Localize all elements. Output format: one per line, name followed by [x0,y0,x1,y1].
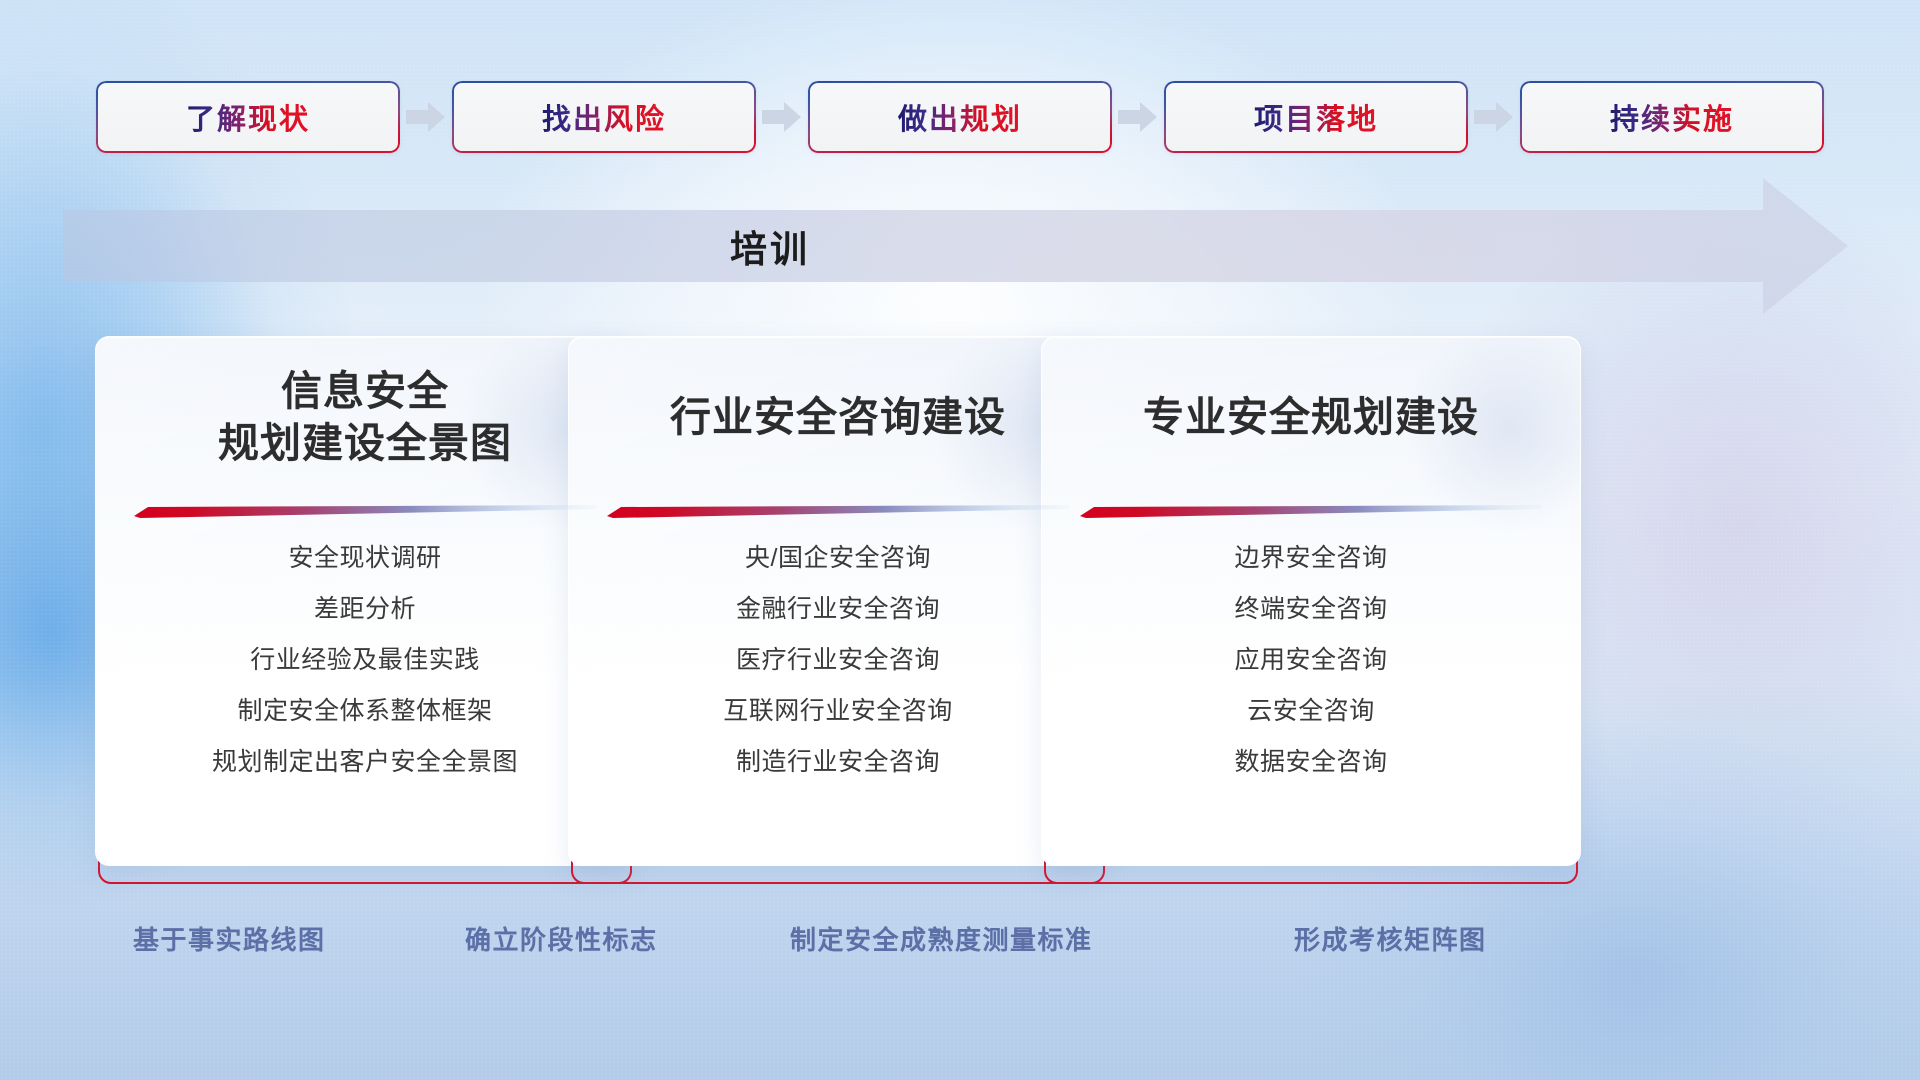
card-3-title-line-1: 专业安全规划建设 [1143,391,1479,443]
card-3-list: 边界安全咨询 终端安全咨询 应用安全咨询 云安全咨询 数据安全咨询 [1042,533,1580,788]
slide-stage: 了解现状 找出风险 做出规划 项目落地 [0,0,1920,1080]
process-step-1[interactable]: 了解现状 [96,81,400,153]
process-step-5-label: 持续实施 [1610,96,1734,138]
list-item: 互联网行业安全咨询 [723,686,953,737]
list-item: 差距分析 [314,584,416,635]
card-2-list: 央/国企安全咨询 金融行业安全咨询 医疗行业安全咨询 互联网行业安全咨询 制造行… [569,533,1107,788]
arrow-right-icon [400,78,452,156]
process-step-1-label: 了解现状 [186,96,310,138]
card-1-title: 信息安全 规划建设全景图 [96,337,634,497]
service-card-2[interactable]: 行业安全咨询建设 [568,336,1108,896]
list-item: 终端安全咨询 [1234,584,1387,635]
list-item: 安全现状调研 [288,533,441,584]
process-step-5[interactable]: 持续实施 [1520,81,1824,153]
card-row: 信息安全 规划建设全景图 [0,336,1920,896]
arrow-right-icon [756,78,808,156]
footer-label-4: 形成考核矩阵图 [1294,920,1487,957]
list-item: 制定安全体系整体框架 [237,686,492,737]
process-step-3-label: 做出规划 [898,96,1022,138]
training-banner-label: 培训 [730,219,810,273]
footer-label-1: 基于事实路线图 [133,920,326,957]
process-step-4[interactable]: 项目落地 [1164,81,1468,153]
footer-label-3: 制定安全成熟度测量标准 [790,920,1093,957]
card-1-divider [134,501,596,519]
card-3-divider [1080,501,1542,519]
process-step-2[interactable]: 找出风险 [452,81,756,153]
card-1-list: 安全现状调研 差距分析 行业经验及最佳实践 制定安全体系整体框架 规划制定出客户… [96,533,634,788]
card-2-title: 行业安全咨询建设 [569,337,1107,497]
card-1-title-line-2: 规划建设全景图 [218,417,512,469]
list-item: 行业经验及最佳实践 [250,635,480,686]
card-2-title-line-1: 行业安全咨询建设 [670,391,1006,443]
service-card-1[interactable]: 信息安全 规划建设全景图 [95,336,635,896]
list-item: 边界安全咨询 [1234,533,1387,584]
arrow-right-icon [1468,78,1520,156]
list-item: 云安全咨询 [1247,686,1375,737]
process-step-row: 了解现状 找出风险 做出规划 项目落地 [0,78,1920,156]
card-2-divider [607,501,1069,519]
footer-label-row: 基于事实路线图 确立阶段性标志 制定安全成熟度测量标准 形成考核矩阵图 [0,920,1920,980]
training-banner-label-wrap: 培训 [0,210,1540,282]
service-card-3[interactable]: 专业安全规划建设 [1041,336,1581,896]
list-item: 金融行业安全咨询 [736,584,940,635]
card-3-title: 专业安全规划建设 [1042,337,1580,497]
card-surface: 专业安全规划建设 [1041,336,1581,866]
list-item: 央/国企安全咨询 [745,533,931,584]
process-step-2-label: 找出风险 [542,96,666,138]
card-1-title-line-1: 信息安全 [281,365,449,417]
card-surface: 信息安全 规划建设全景图 [95,336,635,866]
list-item: 数据安全咨询 [1234,737,1387,788]
list-item: 规划制定出客户安全全景图 [212,737,518,788]
arrow-right-icon [1112,78,1164,156]
card-surface: 行业安全咨询建设 [568,336,1108,866]
list-item: 应用安全咨询 [1234,635,1387,686]
list-item: 制造行业安全咨询 [736,737,940,788]
list-item: 医疗行业安全咨询 [736,635,940,686]
process-step-3[interactable]: 做出规划 [808,81,1112,153]
footer-label-2: 确立阶段性标志 [465,920,658,957]
process-step-4-label: 项目落地 [1254,96,1378,138]
